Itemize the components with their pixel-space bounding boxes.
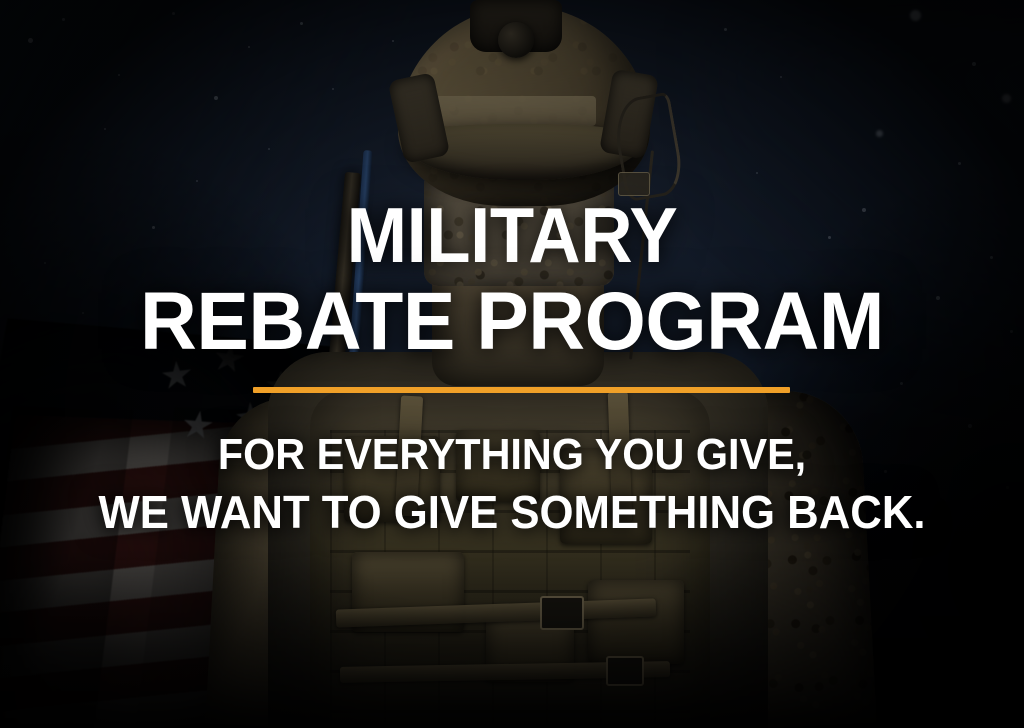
text-overlay: MILITARY REBATE PROGRAM FOR EVERYTHING Y…	[0, 0, 1024, 728]
headline-line-2: REBATE PROGRAM	[20, 282, 1003, 362]
headline-line-1: MILITARY	[36, 198, 988, 274]
orange-divider-rule	[253, 387, 790, 393]
military-rebate-banner: MILITARY REBATE PROGRAM FOR EVERYTHING Y…	[0, 0, 1024, 728]
subheadline-line-1: FOR EVERYTHING YOU GIVE,	[31, 430, 994, 480]
subheadline-line-2: WE WANT TO GIVE SOMETHING BACK.	[26, 485, 999, 539]
